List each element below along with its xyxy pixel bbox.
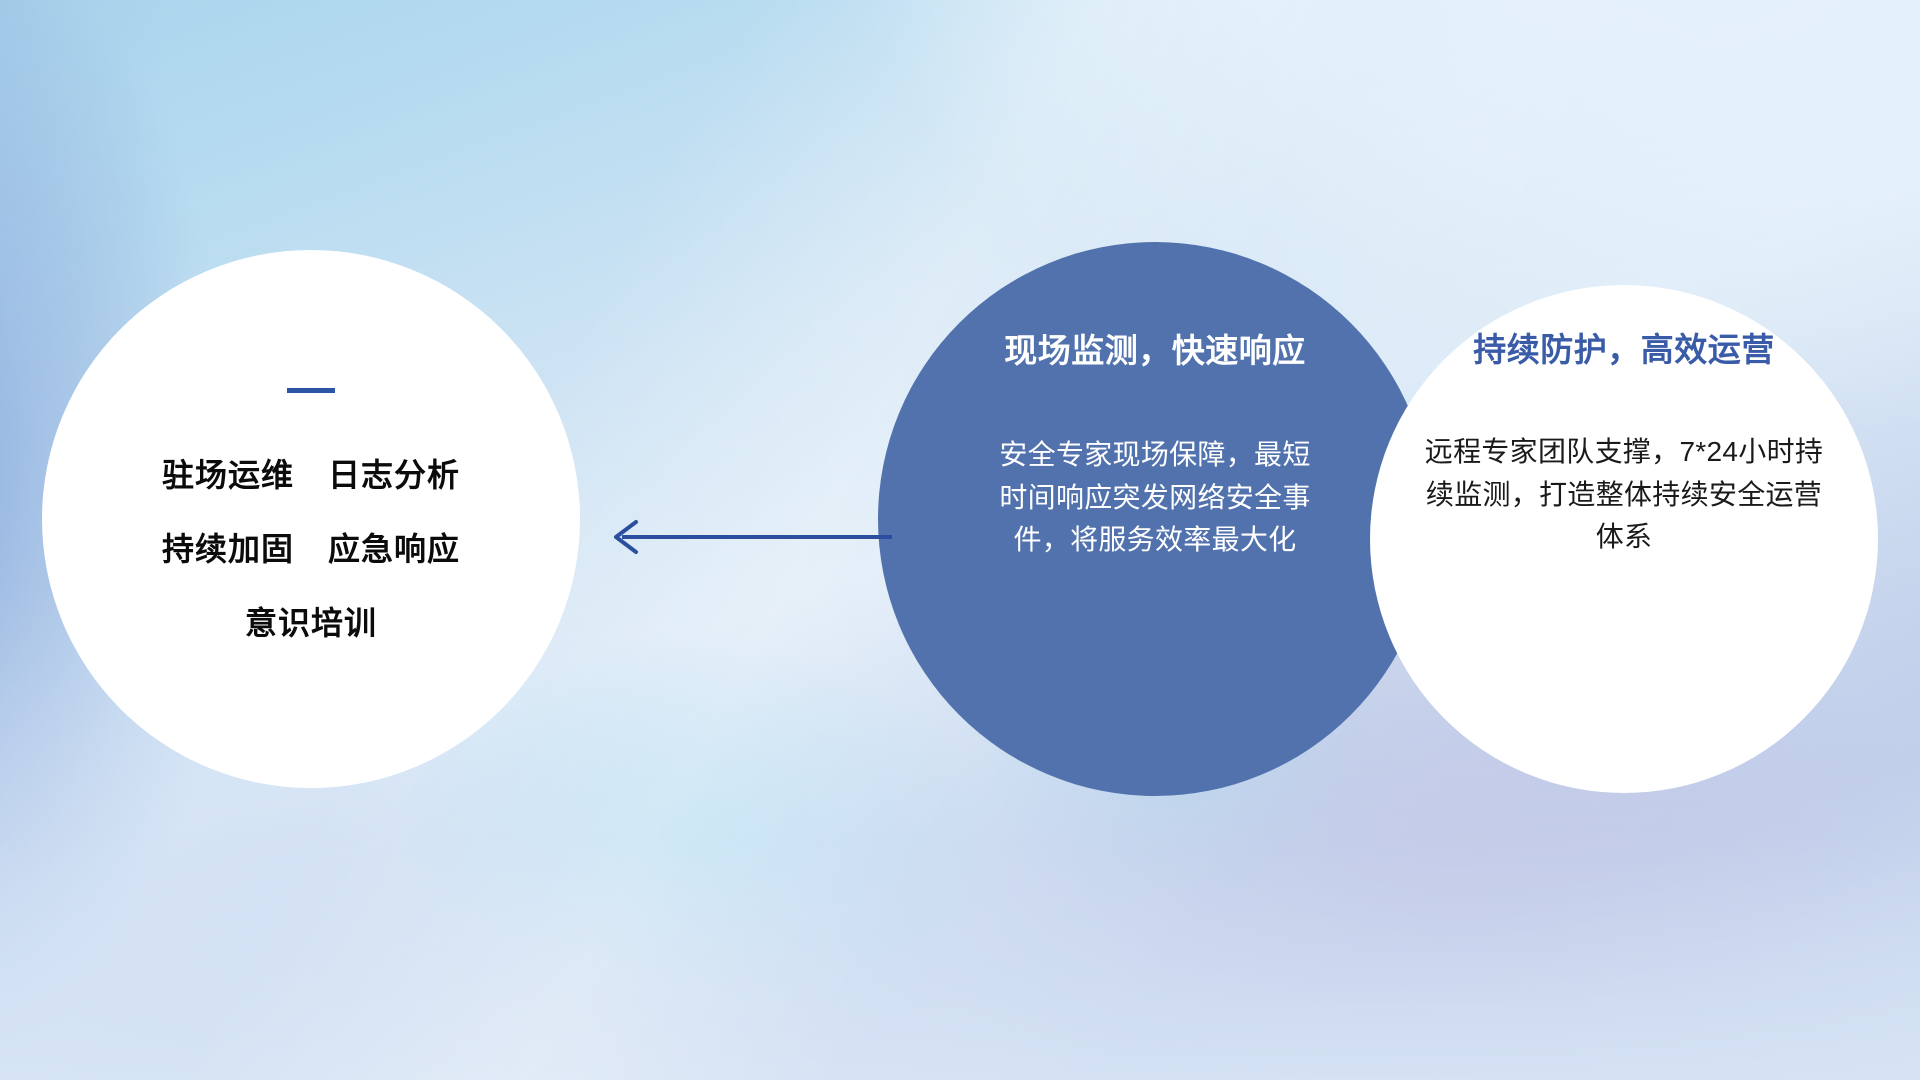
middle-circle-title: 现场监测，快速响应 — [1004, 324, 1306, 372]
capability-circle-middle[interactable]: 现场监测，快速响应 安全专家现场保障，最短时间响应突发网络安全事件，将服务效率最… — [878, 242, 1432, 796]
middle-circle-content: 现场监测，快速响应 安全专家现场保障，最短时间响应突发网络安全事件，将服务效率最… — [878, 242, 1432, 562]
right-circle-content: 持续防护，高效运营 远程专家团队支撑，7*24小时持续监测，打造整体持续安全运营… — [1370, 285, 1878, 559]
capability-tag-row: 意识培训 — [245, 598, 377, 644]
capability-tag-row: 驻场运维 日志分析 — [162, 450, 460, 496]
capability-tag: 持续加固 — [162, 524, 294, 570]
capability-circle-right[interactable]: 持续防护，高效运营 远程专家团队支撑，7*24小时持续监测，打造整体持续安全运营… — [1370, 285, 1878, 793]
capability-tag-row: 持续加固 应急响应 — [162, 524, 460, 570]
capability-tag: 意识培训 — [245, 598, 377, 644]
capability-tag: 日志分析 — [328, 450, 460, 496]
capability-tag: 应急响应 — [328, 524, 460, 570]
capability-tag: 驻场运维 — [162, 450, 294, 496]
left-circle-content: 驻场运维 日志分析 持续加固 应急响应 意识培训 — [42, 250, 580, 644]
right-circle-body: 远程专家团队支撑，7*24小时持续监测，打造整体持续安全运营体系 — [1424, 431, 1824, 559]
capability-circle-left[interactable]: 驻场运维 日志分析 持续加固 应急响应 意识培训 — [42, 250, 580, 788]
divider-dash-icon — [287, 388, 335, 393]
slide-canvas: 驻场运维 日志分析 持续加固 应急响应 意识培训 现场监测，快速响应 安全专家现… — [0, 0, 1920, 1080]
arrow-left-icon — [596, 515, 896, 559]
capability-tag-grid: 驻场运维 日志分析 持续加固 应急响应 意识培训 — [162, 450, 460, 644]
middle-circle-body: 安全专家现场保障，最短时间响应突发网络安全事件，将服务效率最大化 — [990, 434, 1320, 562]
right-circle-title: 持续防护，高效运营 — [1473, 323, 1775, 371]
